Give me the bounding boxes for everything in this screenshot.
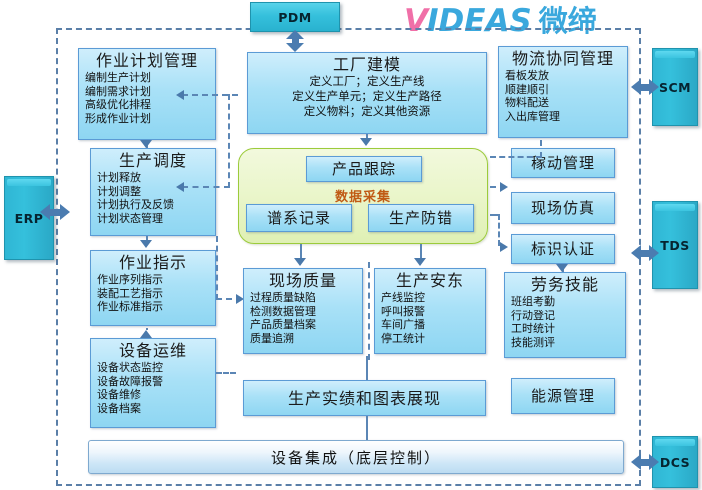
- module-logistics-collaboration-items: 看板发放 顺建顺引 物料配送 入出库管理: [499, 68, 627, 123]
- list-item: 顺建顺引: [505, 83, 627, 97]
- list-item: 设备状态监控: [97, 361, 215, 375]
- list-item: 设备维修: [97, 388, 215, 402]
- list-item: 产品质量档案: [250, 318, 362, 332]
- list-item: 质量追溯: [250, 332, 362, 346]
- connector-modeling-to-core-arrow: [360, 138, 372, 146]
- module-performance-charts-label: 生产实绩和图表展现: [288, 389, 441, 408]
- module-equipment-maintenance-title: 设备运维: [91, 339, 215, 360]
- module-equipment-integration-label: 设备集成（底层控制）: [271, 447, 441, 468]
- external-system-pdm[interactable]: PDM: [250, 2, 340, 32]
- module-performance-charts[interactable]: 生产实绩和图表展现: [243, 380, 486, 416]
- module-utilization-management[interactable]: 稼动管理: [511, 148, 615, 178]
- module-logistics-collaboration-title: 物流协同管理: [499, 47, 627, 68]
- module-production-scheduling-title: 生产调度: [91, 149, 215, 170]
- connector-core-to-logistics: [490, 156, 542, 158]
- connector-instruction-vertical: [216, 236, 218, 300]
- external-system-tds-label: TDS: [660, 238, 689, 253]
- connector-maintenance-to-instruction-arrow: [140, 330, 152, 338]
- module-labor-skills[interactable]: 劳务技能 班组考勤 行动登记 工时统计 技能测评: [504, 272, 626, 358]
- connector-pdm-to-frame: [286, 30, 304, 52]
- list-item: 工时统计: [511, 322, 625, 336]
- module-production-andon[interactable]: 生产安东 产线监控 呼叫报警 车间广播 停工统计: [374, 268, 486, 354]
- connector-core-to-andon-arrow: [414, 258, 426, 266]
- module-work-instruction[interactable]: 作业指示 作业序列指示 装配工艺指示 作业标准指示: [90, 250, 216, 326]
- module-onsite-simulation-label: 现场仿真: [531, 199, 595, 218]
- list-item: 看板发放: [505, 69, 627, 83]
- group-data-collection-label: 数据采集: [288, 186, 438, 205]
- module-work-instruction-items: 作业序列指示 装配工艺指示 作业标准指示: [91, 272, 215, 314]
- connector-andon-to-performance: [366, 356, 368, 380]
- list-item: 编制生产计划: [85, 71, 215, 85]
- module-genealogy-record-label: 谱系记录: [267, 209, 331, 228]
- module-labor-skills-items: 班组考勤 行动登记 工时统计 技能测评: [505, 294, 625, 349]
- module-field-quality-items: 过程质量缺陷 检测数据管理 产品质量档案 质量追溯: [244, 290, 362, 345]
- list-item: 高级优化排程: [85, 98, 215, 112]
- module-equipment-maintenance[interactable]: 设备运维 设备状态监控 设备故障报警 设备维修 设备档案: [90, 338, 216, 428]
- connector-core-to-scheduling-arrow: [176, 182, 184, 192]
- list-item: 定义物料；定义其他资源: [252, 104, 482, 119]
- list-item: 车间广播: [381, 318, 485, 332]
- erp-box-highlight: [7, 179, 51, 186]
- module-identification-certification[interactable]: 标识认证: [511, 234, 615, 264]
- connector-core-to-identification-arrow: [500, 242, 508, 252]
- connector-dcs-to-frame: [631, 454, 659, 470]
- list-item: 停工统计: [381, 332, 485, 346]
- connector-identification-to-labor-arrow: [556, 264, 568, 272]
- list-item: 作业标准指示: [97, 300, 215, 314]
- module-production-scheduling-items: 计划释放 计划调整 计划执行及反馈 计划状态管理: [91, 170, 215, 225]
- module-factory-modeling-lines: 定义工厂；定义生产线 定义生产单元；定义生产路径 定义物料；定义其他资源: [248, 74, 486, 119]
- list-item: 计划执行及反馈: [97, 198, 215, 212]
- connector-performance-to-integration: [366, 416, 368, 440]
- connector-maintenance-branch: [216, 372, 236, 374]
- module-production-plan-title: 作业计划管理: [79, 49, 215, 70]
- connector-plan-to-scheduling-arrow: [140, 140, 152, 148]
- external-system-scm-label: SCM: [659, 80, 691, 95]
- module-error-proofing[interactable]: 生产防错: [368, 204, 474, 232]
- list-item: 行动登记: [511, 309, 625, 323]
- module-energy-management[interactable]: 能源管理: [511, 378, 615, 414]
- module-factory-modeling[interactable]: 工厂建模 定义工厂；定义生产线 定义生产单元；定义生产路径 定义物料；定义其他资…: [247, 52, 487, 134]
- module-field-quality-title: 现场质量: [244, 269, 362, 290]
- module-equipment-integration[interactable]: 设备集成（底层控制）: [88, 440, 624, 474]
- list-item: 班组考勤: [511, 295, 625, 309]
- scm-box-highlight: [655, 51, 695, 58]
- module-product-tracking[interactable]: 产品跟踪: [306, 156, 422, 182]
- connector-core-to-scheduling: [182, 186, 230, 188]
- connector-tds-to-frame: [631, 245, 659, 261]
- module-work-instruction-title: 作业指示: [91, 251, 215, 272]
- list-item: 检测数据管理: [250, 305, 362, 319]
- connector-core-vertical-left: [228, 94, 230, 188]
- module-production-scheduling[interactable]: 生产调度 计划释放 计划调整 计划执行及反馈 计划状态管理: [90, 148, 216, 236]
- module-labor-skills-title: 劳务技能: [505, 273, 625, 294]
- tds-box-highlight: [655, 204, 695, 211]
- list-item: 装配工艺指示: [97, 287, 215, 301]
- list-item: 定义工厂；定义生产线: [252, 74, 482, 89]
- module-production-plan-items: 编制生产计划 编制需求计划 高级优化排程 形成作业计划: [79, 70, 215, 125]
- connector-core-to-plan-arrow: [176, 90, 184, 100]
- list-item: 产线监控: [381, 291, 485, 305]
- list-item: 形成作业计划: [85, 112, 215, 126]
- connector-core-to-simulation-arrow: [500, 182, 508, 192]
- diagram-canvas: V IDEAS 微缔 PDM ERP SCM TDS DCS 作业计划管理: [0, 0, 702, 490]
- dcs-box-highlight: [655, 439, 695, 446]
- list-item: 技能测评: [511, 336, 625, 350]
- list-item: 入出库管理: [505, 110, 627, 124]
- module-genealogy-record[interactable]: 谱系记录: [246, 204, 352, 232]
- module-logistics-collaboration[interactable]: 物流协同管理 看板发放 顺建顺引 物料配送 入出库管理: [498, 46, 628, 138]
- list-item: 呼叫报警: [381, 305, 485, 319]
- connector-scm-to-frame: [631, 79, 659, 95]
- module-error-proofing-label: 生产防错: [389, 209, 453, 228]
- connector-erp-to-frame: [40, 204, 70, 220]
- connector-scheduling-to-instruction-arrow: [140, 240, 152, 248]
- list-item: 计划状态管理: [97, 212, 215, 226]
- list-item: 定义生产单元；定义生产路径: [252, 89, 482, 104]
- module-production-andon-title: 生产安东: [375, 269, 485, 290]
- list-item: 设备故障报警: [97, 375, 215, 389]
- external-system-pdm-label: PDM: [278, 10, 311, 25]
- divider-quality-andon: [368, 262, 370, 360]
- external-system-dcs-label: DCS: [660, 455, 690, 470]
- module-factory-modeling-title: 工厂建模: [248, 53, 486, 74]
- list-item: 计划释放: [97, 171, 215, 185]
- module-product-tracking-label: 产品跟踪: [332, 160, 396, 179]
- connector-core-to-quality-arrow: [294, 258, 306, 266]
- connector-logistics-vertical: [540, 140, 542, 158]
- module-energy-management-label: 能源管理: [531, 387, 595, 406]
- list-item: 设备档案: [97, 402, 215, 416]
- list-item: 过程质量缺陷: [250, 291, 362, 305]
- module-equipment-maintenance-items: 设备状态监控 设备故障报警 设备维修 设备档案: [91, 360, 215, 415]
- list-item: 作业序列指示: [97, 273, 215, 287]
- module-field-quality[interactable]: 现场质量 过程质量缺陷 检测数据管理 产品质量档案 质量追溯: [243, 268, 363, 354]
- module-onsite-simulation[interactable]: 现场仿真: [511, 192, 615, 224]
- module-production-andon-items: 产线监控 呼叫报警 车间广播 停工统计: [375, 290, 485, 345]
- list-item: 物料配送: [505, 96, 627, 110]
- module-identification-certification-label: 标识认证: [531, 240, 595, 259]
